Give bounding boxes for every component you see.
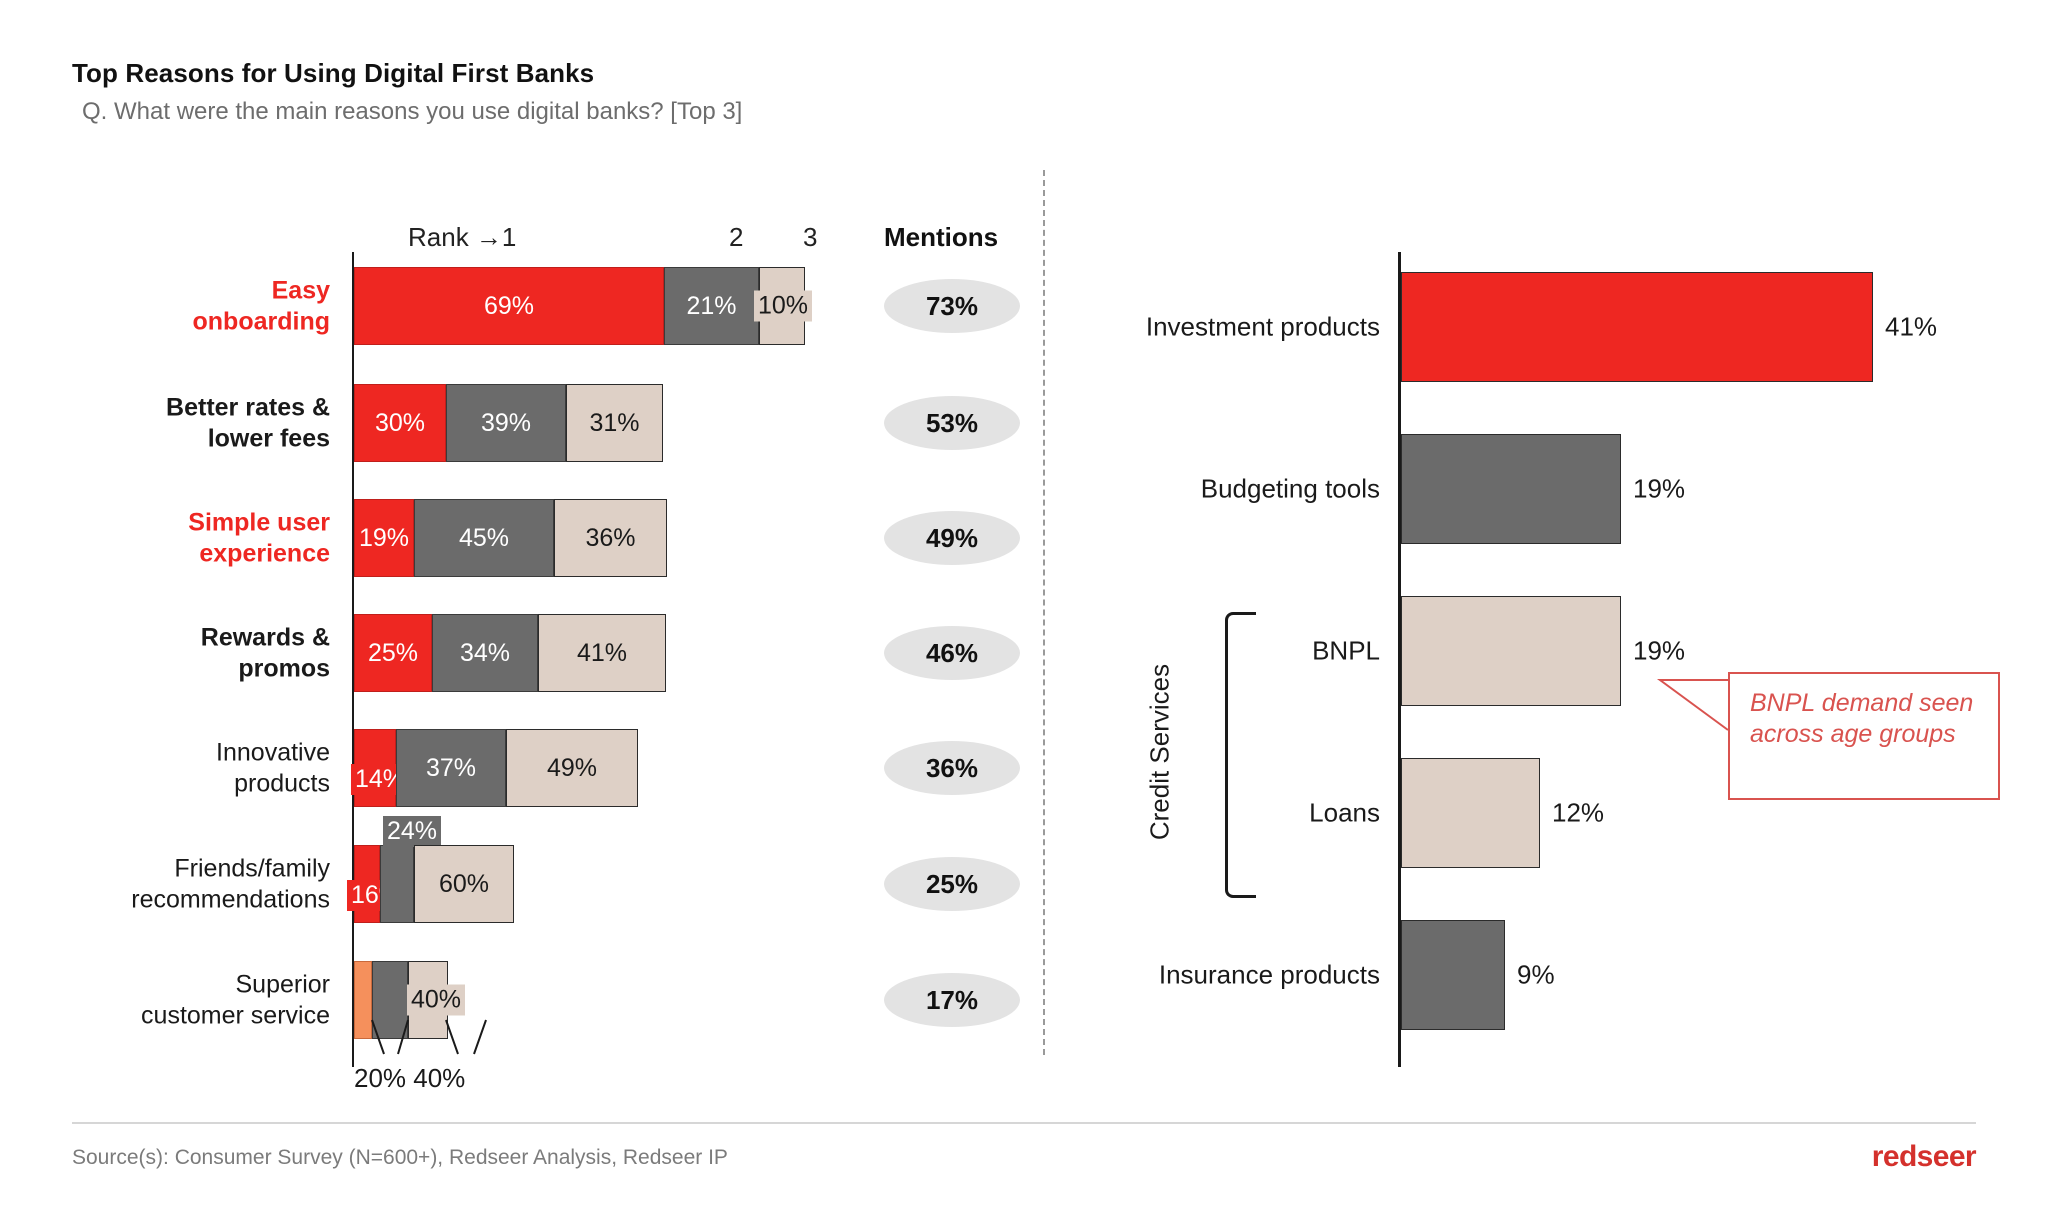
bar-value-label: 41%	[1885, 312, 1937, 343]
bar-value-label: 19%	[1633, 474, 1685, 505]
footer-divider	[72, 1122, 1976, 1124]
rank-2-header: 2	[729, 222, 743, 253]
source-note: Source(s): Consumer Survey (N=600+), Red…	[72, 1146, 728, 1170]
list-item: Insurance products 9%	[1090, 920, 2030, 1030]
bar-segment-rank2[interactable]: 21%	[664, 267, 759, 345]
rank-1-header: Rank →1	[408, 222, 516, 253]
row-label-line2: onboarding	[193, 307, 330, 335]
segment-value: 45%	[455, 523, 513, 554]
left-chart-panel: Top Reasons for Using Digital First Bank…	[0, 0, 1045, 1100]
bar-segment-rank2[interactable]: 45%	[414, 499, 554, 577]
bar-loans[interactable]	[1401, 758, 1540, 868]
row-category-label: Better rates & lower fees	[12, 393, 330, 454]
segment-value: 69%	[480, 291, 538, 322]
bar-investment-products[interactable]	[1401, 272, 1873, 382]
segment-value: 34%	[456, 638, 514, 669]
bar-value-label: 9%	[1517, 960, 1555, 991]
left-panel-title: Top Reasons for Using Digital First Bank…	[72, 58, 594, 89]
bar-segment-rank3[interactable]: 60%	[414, 845, 514, 923]
annotation-callout: BNPL demand seen across age groups	[1728, 672, 2000, 800]
row-label-line2: lower fees	[208, 424, 330, 452]
rank-3-header: 3	[803, 222, 817, 253]
bar-category-label: Insurance products	[1090, 960, 1380, 991]
mentions-column-header: Mentions	[884, 222, 998, 253]
mentions-pill: 46%	[884, 626, 1020, 680]
bar-budgeting-tools[interactable]	[1401, 434, 1621, 544]
row-label-line1: Better rates &	[166, 394, 330, 422]
row-label-line1: Rewards &	[201, 624, 330, 652]
segment-value: 24%	[383, 816, 441, 847]
row-label-line1: Innovative	[216, 739, 330, 767]
segment-value: 60%	[435, 869, 493, 900]
table-row: Easy onboarding 69% 21% 10% 73%	[0, 258, 1045, 354]
bar-segment-rank2[interactable]: 24%	[380, 845, 414, 923]
mentions-pill: 25%	[884, 857, 1020, 911]
bar-segment-rank1[interactable]: 69%	[354, 267, 664, 345]
row-label-line1: Easy	[272, 277, 330, 305]
stacked-bar: 25% 34% 41%	[354, 614, 666, 692]
bar-value-label: 12%	[1552, 798, 1604, 829]
segment-value: 49%	[543, 753, 601, 784]
row-category-label: Superior customer service	[12, 970, 330, 1031]
bar-segment-rank2[interactable]: 39%	[446, 384, 566, 462]
table-row: Innovative products 14% 37% 49% 36%	[0, 720, 1045, 816]
bar-segment-rank1[interactable]: 25%	[354, 614, 432, 692]
segment-value: 36%	[581, 523, 639, 554]
table-row: Friends/family recommendations 16% 24% 6…	[0, 836, 1045, 932]
bar-segment-rank1[interactable]: 19%	[354, 499, 414, 577]
row-label-line1: Superior	[236, 971, 331, 999]
row-category-label: Innovative products	[12, 738, 330, 799]
bar-segment-rank1[interactable]: 30%	[354, 384, 446, 462]
bar-segment-rank3[interactable]: 49%	[506, 729, 638, 807]
row-category-label: Easy onboarding	[12, 276, 330, 337]
table-row: Simple user experience 19% 45% 36% 49%	[0, 490, 1045, 586]
left-axis-tick-labels: 20% 40%	[354, 1063, 465, 1094]
segment-value: 25%	[364, 638, 422, 669]
stacked-bar: 30% 39% 31%	[354, 384, 663, 462]
segment-value: 41%	[573, 638, 631, 669]
row-label-wrap: Superior customer service	[0, 952, 330, 1048]
mentions-pill: 53%	[884, 396, 1020, 450]
bar-segment-rank3[interactable]: 41%	[538, 614, 666, 692]
bar-segment-rank2[interactable]: 37%	[396, 729, 506, 807]
bar-segment-rank1[interactable]: 14%	[354, 729, 396, 807]
bar-segment-rank3[interactable]: 31%	[566, 384, 663, 462]
row-label-wrap: Innovative products	[0, 720, 330, 816]
bar-segment-rank3[interactable]: 36%	[554, 499, 667, 577]
segment-value: 39%	[477, 408, 535, 439]
row-label-line1: Simple user	[188, 509, 330, 537]
bar-insurance-products[interactable]	[1401, 920, 1505, 1030]
row-category-label: Friends/family recommendations	[12, 854, 330, 915]
slide-canvas: Top Reasons for Using Digital First Bank…	[0, 0, 2048, 1229]
credit-services-bracket	[1225, 612, 1256, 898]
table-row: Rewards & promos 25% 34% 41% 46%	[0, 605, 1045, 701]
row-label-wrap: Better rates & lower fees	[0, 375, 330, 471]
list-item: Investment products 41%	[1090, 272, 2030, 382]
segment-value: 21%	[682, 291, 740, 322]
stacked-bar: 16% 24% 60%	[354, 845, 514, 923]
row-label-wrap: Rewards & promos	[0, 605, 330, 701]
table-row: Better rates & lower fees 30% 39% 31% 53…	[0, 375, 1045, 471]
list-item: Budgeting tools 19%	[1090, 434, 2030, 544]
bar-bnpl[interactable]	[1401, 596, 1621, 706]
row-label-wrap: Easy onboarding	[0, 258, 330, 354]
stacked-bar: 19% 45% 36%	[354, 499, 667, 577]
row-label-line2: products	[234, 769, 330, 797]
left-panel-subtitle: Q. What were the main reasons you use di…	[82, 96, 1002, 128]
row-label-line1: Friends/family	[174, 855, 330, 883]
segment-value: 19%	[355, 523, 413, 554]
row-category-label: Simple user experience	[12, 508, 330, 569]
bar-segment-rank2[interactable]: 34%	[432, 614, 538, 692]
axis-leader-lines	[352, 1020, 552, 1066]
segment-value: 31%	[585, 408, 643, 439]
row-label-line2: recommendations	[131, 885, 330, 913]
bar-category-label: Investment products	[1090, 312, 1380, 343]
row-label-line2: experience	[199, 539, 330, 567]
segment-value: 40%	[407, 985, 465, 1016]
mentions-pill: 73%	[884, 279, 1020, 333]
row-label-wrap: Friends/family recommendations	[0, 836, 330, 932]
segment-value: 10%	[754, 291, 812, 322]
segment-value: 30%	[371, 408, 429, 439]
redseer-logo: redseer	[1872, 1140, 1976, 1174]
row-label-wrap: Simple user experience	[0, 490, 330, 586]
stacked-bar: 14% 37% 49%	[354, 729, 638, 807]
row-label-line2: customer service	[141, 1001, 330, 1029]
bar-segment-rank3[interactable]: 10%	[759, 267, 805, 345]
bar-category-label: Budgeting tools	[1090, 474, 1380, 505]
row-label-line2: promos	[238, 654, 330, 682]
row-category-label: Rewards & promos	[12, 623, 330, 684]
mentions-pill: 36%	[884, 741, 1020, 795]
credit-services-label: Credit Services	[1145, 664, 1176, 840]
stacked-bar: 69% 21% 10%	[354, 267, 805, 345]
segment-value: 37%	[422, 753, 480, 784]
mentions-pill: 49%	[884, 511, 1020, 565]
mentions-pill: 17%	[884, 973, 1020, 1027]
bar-segment-rank1[interactable]: 16%	[354, 845, 380, 923]
